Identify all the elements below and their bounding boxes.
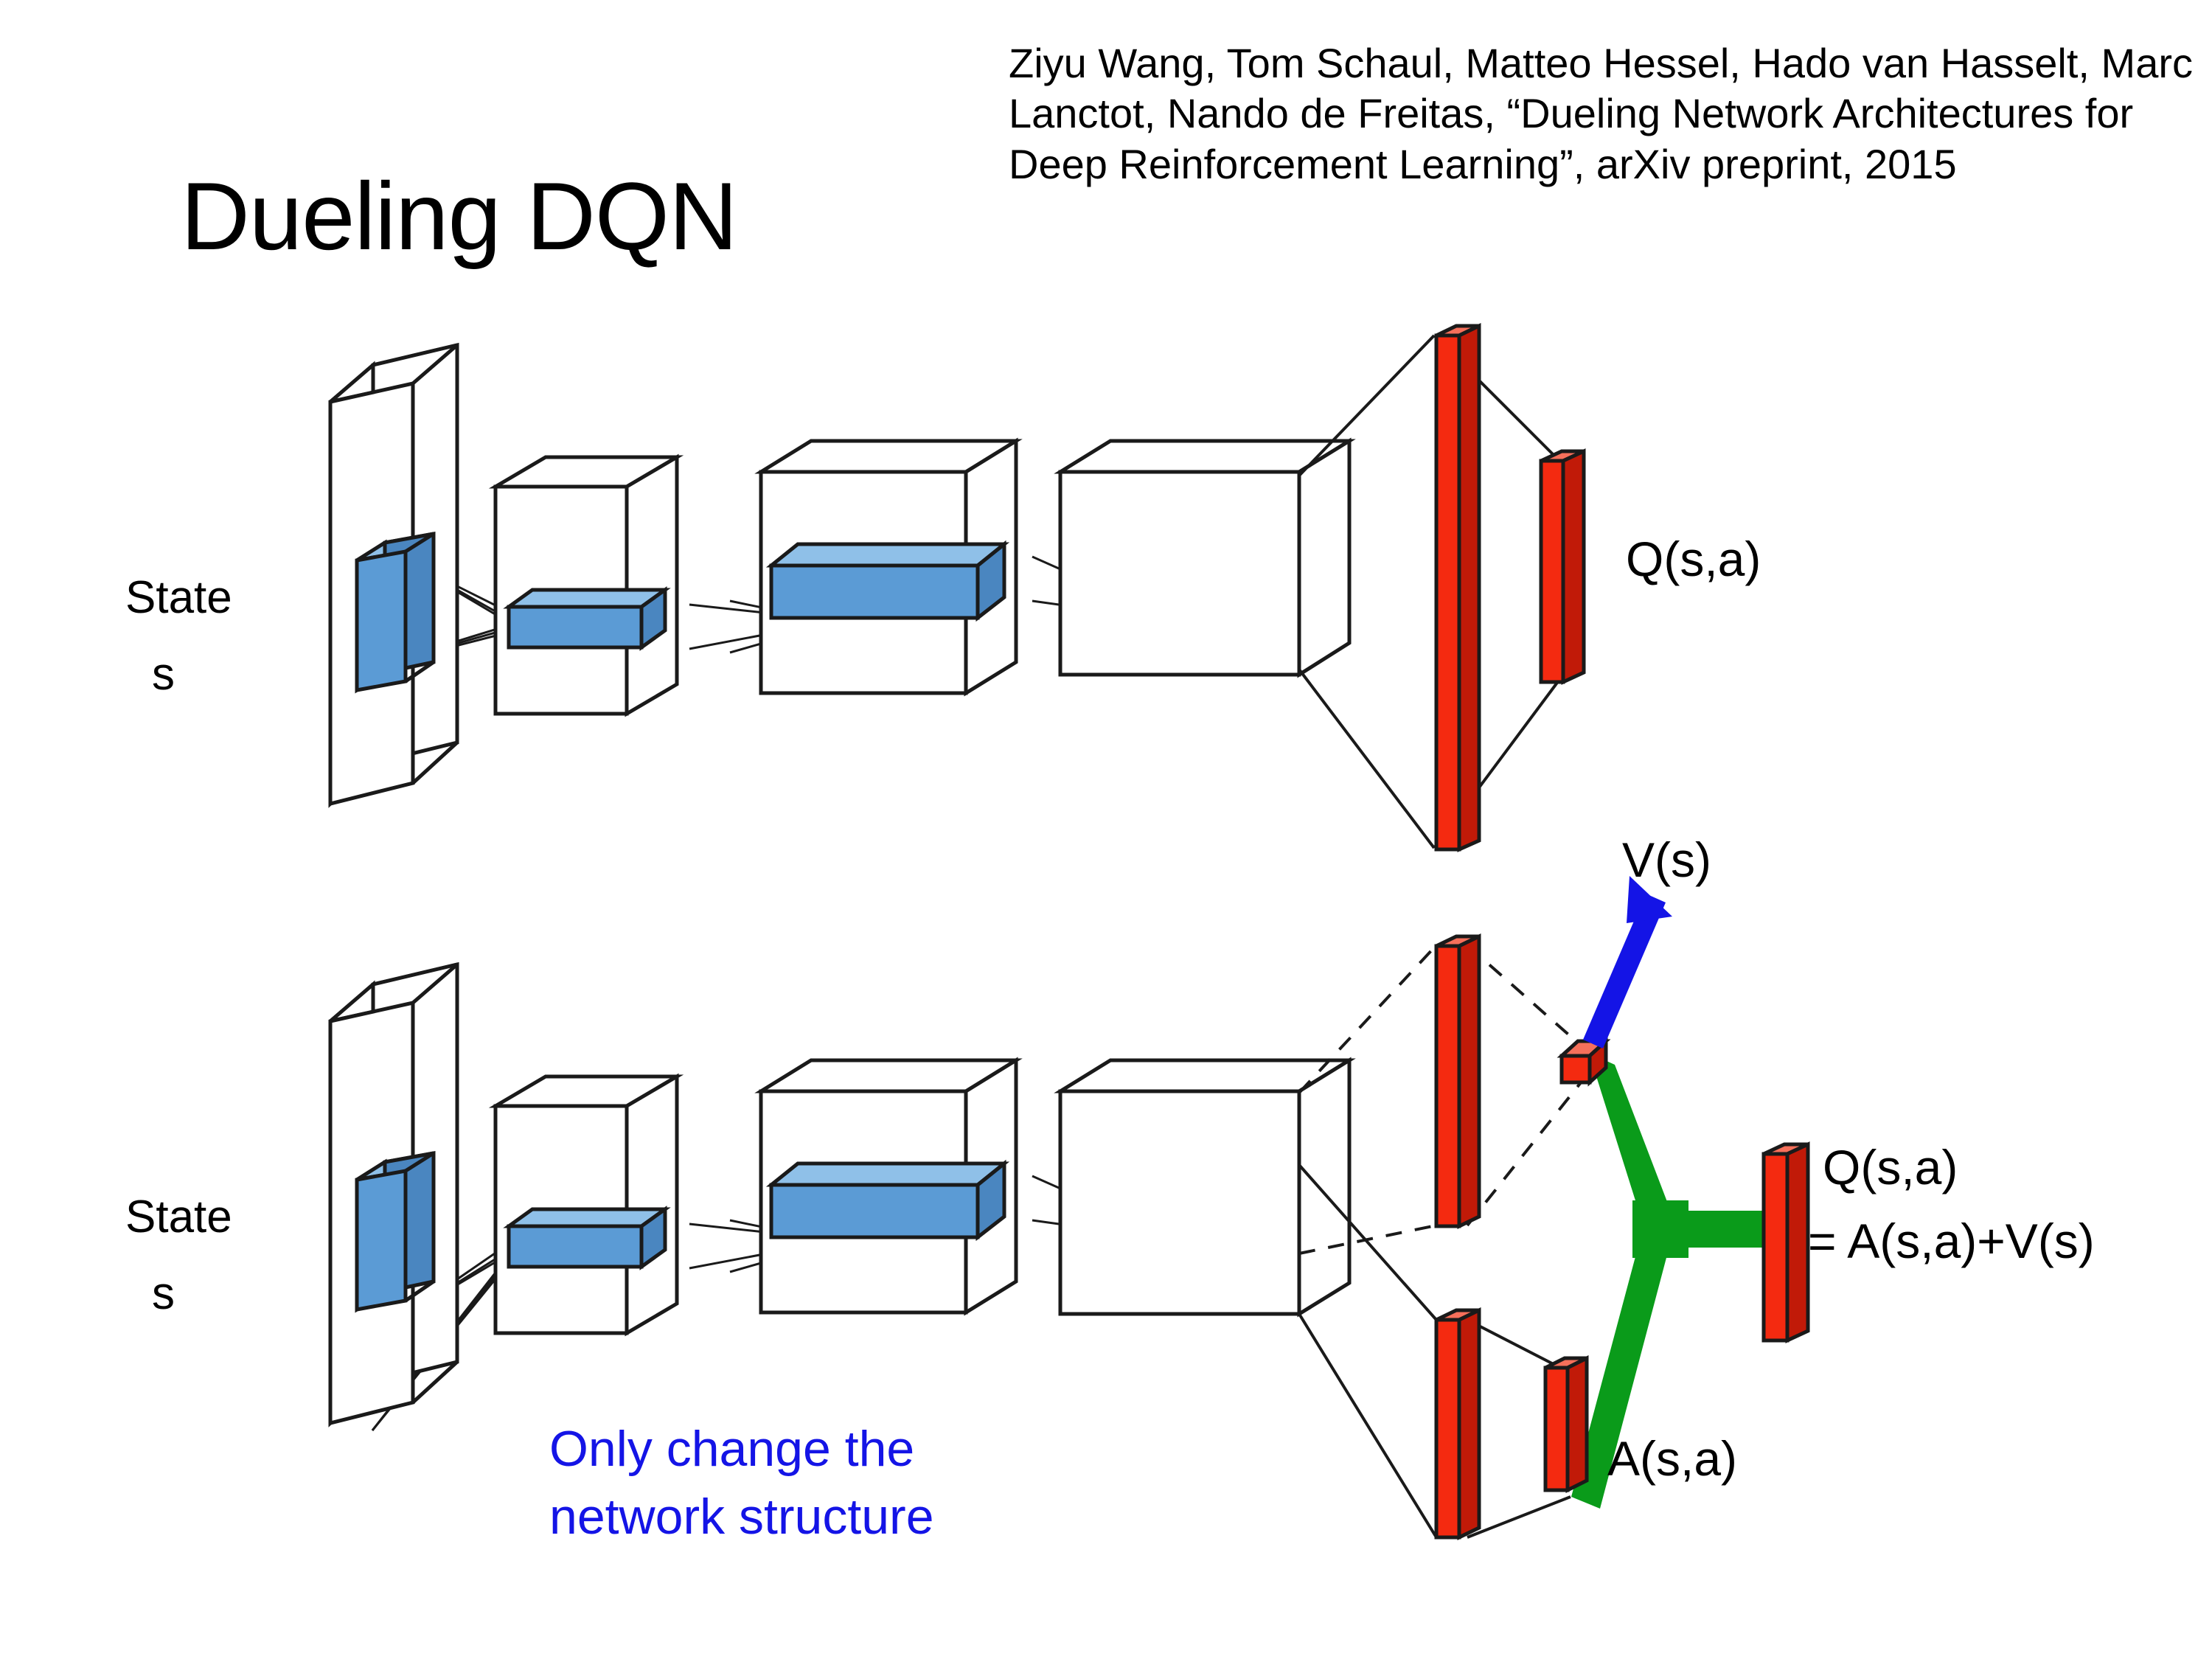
top-input-plane (330, 345, 457, 804)
slide-canvas: Dueling DQN Ziyu Wang, Tom Schaul, Matte… (0, 0, 2212, 1659)
bottom-q-output-bar (1764, 1144, 1808, 1340)
top-conv-box-2 (761, 441, 1016, 693)
top-fc-bar (1436, 326, 1479, 849)
top-fc-funnel (1299, 335, 1563, 848)
bottom-state-label-line2: s (152, 1271, 302, 1317)
page-title: Dueling DQN (181, 168, 737, 264)
top-q-output-bar (1541, 451, 1584, 682)
value-stream-fc-bar (1436, 936, 1479, 1226)
top-conv-slab-2 (771, 544, 1004, 618)
top-fan-2 (689, 601, 826, 653)
bottom-conv-box-3 (1060, 1060, 1349, 1314)
top-input-patch (357, 534, 434, 690)
note-line-2: network structure (549, 1484, 1183, 1551)
bottom-conv-slab-2 (771, 1164, 1004, 1237)
value-stream-dashed-fan (1299, 945, 1593, 1253)
top-fan-1 (372, 557, 516, 667)
bottom-input-plane (330, 964, 457, 1423)
bottom-conv-slab-1 (509, 1209, 665, 1267)
value-scalar-unit (1562, 1041, 1606, 1082)
top-state-label-line1: State (125, 572, 232, 623)
bottom-q-label-line2: = A(s,a)+V(s) (1808, 1213, 2095, 1270)
bottom-fan-3 (1032, 1172, 1165, 1242)
top-state-label-line2: s (152, 652, 302, 698)
bottom-state-label: State s (125, 1194, 302, 1317)
bottom-input-patch (357, 1153, 434, 1310)
advantage-vector-bar (1545, 1358, 1587, 1490)
network-structure-note: Only change the network structure (549, 1416, 1183, 1551)
top-conv-box-1 (495, 457, 677, 714)
bottom-conv-box-2 (761, 1060, 1016, 1312)
bottom-conv-box-1 (495, 1077, 677, 1333)
top-state-label: State s (125, 575, 302, 698)
top-q-label: Q(s,a) (1626, 531, 1761, 588)
advantage-stream-fc-bar (1436, 1310, 1479, 1537)
bottom-fan-2 (689, 1220, 826, 1272)
citation-text: Ziyu Wang, Tom Schaul, Matteo Hessel, Ha… (1009, 38, 2211, 189)
top-fan-3 (1032, 553, 1165, 622)
bottom-q-label-line1: Q(s,a) (1823, 1139, 1958, 1196)
advantage-function-label: A(s,a) (1607, 1430, 1737, 1487)
top-conv-box-3 (1060, 441, 1349, 675)
bottom-fan-1 (372, 1239, 516, 1430)
note-line-1: Only change the (549, 1416, 1183, 1484)
value-function-label: V(s) (1622, 832, 1711, 888)
advantage-stream-fan (1299, 1165, 1571, 1537)
bottom-state-label-line1: State (125, 1192, 232, 1242)
top-network-group (330, 326, 1584, 849)
top-conv-slab-1 (509, 590, 665, 647)
value-arrow-blue (1583, 876, 1672, 1048)
